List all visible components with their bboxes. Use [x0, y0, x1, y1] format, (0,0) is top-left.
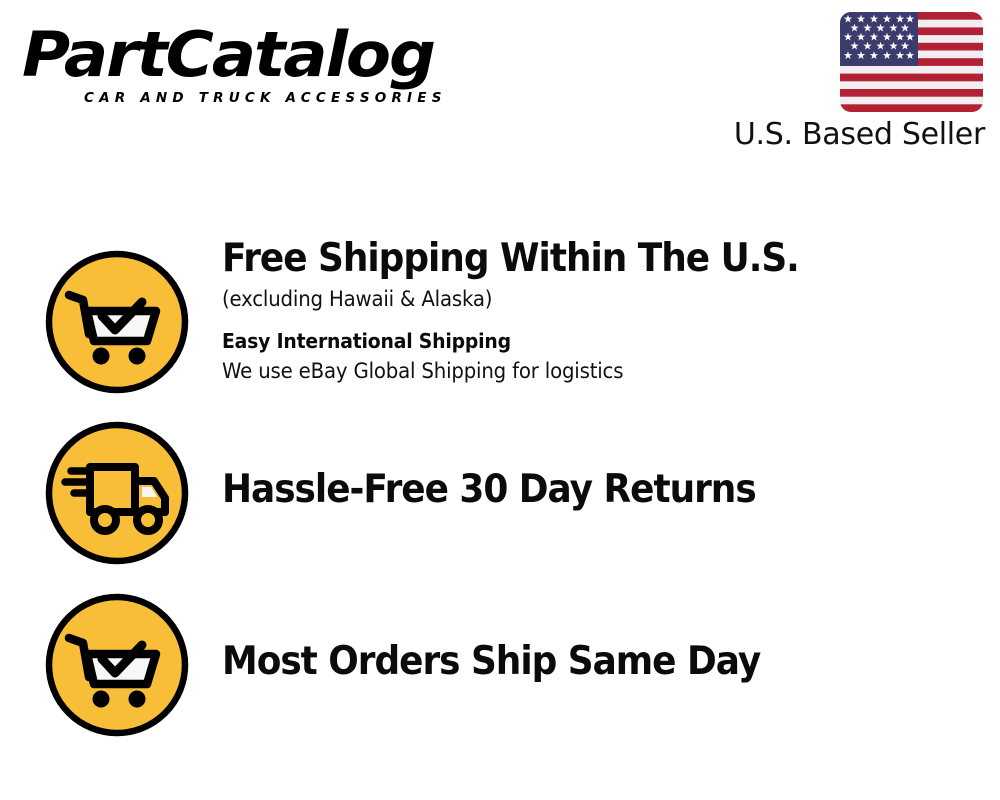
- seller-info-banner: PartCatalog CAR AND TRUCK ACCESSORIES: [0, 0, 1000, 800]
- cart-check-icon: [43, 248, 191, 396]
- feature-sub-detail: We use eBay Global Shipping for logistic…: [222, 356, 936, 386]
- feature-text-same-day: Most Orders Ship Same Day: [222, 639, 982, 685]
- brand-wordmark: PartCatalog: [22, 24, 520, 86]
- feature-text-free-shipping: Free Shipping Within The U.S. (excluding…: [222, 236, 982, 386]
- feature-subtext: (excluding Hawaii & Alaska): [222, 284, 936, 314]
- feature-heading: Most Orders Ship Same Day: [222, 639, 921, 685]
- us-flag-icon: [840, 12, 983, 112]
- feature-text-returns: Hassle-Free 30 Day Returns: [222, 467, 982, 513]
- brand-tagline: CAR AND TRUCK ACCESSORIES: [84, 90, 492, 106]
- feature-heading: Hassle-Free 30 Day Returns: [222, 467, 921, 513]
- delivery-truck-icon: [43, 419, 191, 567]
- us-based-seller-label: U.S. Based Seller: [560, 117, 985, 153]
- cart-check-icon: [43, 591, 191, 739]
- feature-sub-heading: Easy International Shipping: [222, 326, 936, 356]
- brand-logo[interactable]: PartCatalog CAR AND TRUCK ACCESSORIES: [22, 24, 492, 106]
- feature-heading: Free Shipping Within The U.S.: [222, 236, 921, 282]
